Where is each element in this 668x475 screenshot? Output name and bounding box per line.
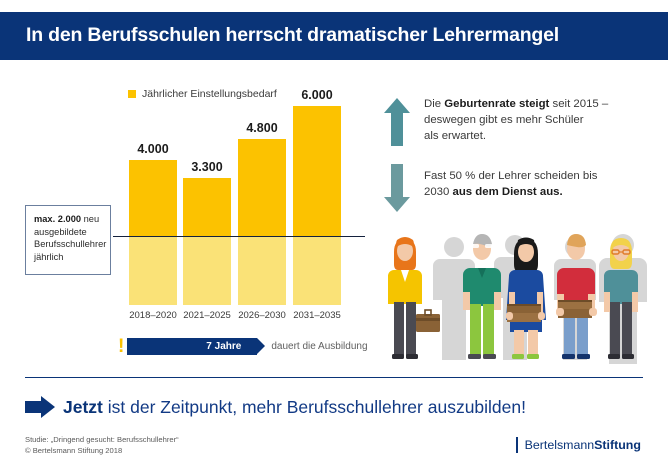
- call-to-action: Jetzt ist der Zeitpunkt, mehr Berufsschu…: [25, 396, 526, 418]
- call-to-action-text: Jetzt ist der Zeitpunkt, mehr Berufsschu…: [63, 396, 526, 418]
- people-illustration: [378, 230, 663, 370]
- bar-segment-above-threshold: [293, 106, 341, 236]
- arrow-up-icon: [382, 96, 412, 148]
- bar-segment-below-threshold: [129, 236, 177, 305]
- threshold-callout-box: max. 2.000 neu ausgebildete Berufsschull…: [25, 205, 111, 275]
- bar-segment-below-threshold: [238, 236, 286, 305]
- years-value-label: 7 Jahre: [206, 341, 241, 352]
- bar-category-label: 2031–2035: [272, 310, 362, 321]
- logo-bar-icon: [516, 437, 518, 453]
- fact-retirement-bold: aus dem Dienst aus.: [453, 186, 563, 198]
- bar-segment-above-threshold: [183, 178, 231, 236]
- fact-birthrate-text: Die Geburtenrate steigt seit 2015 – desw…: [424, 96, 662, 144]
- bar-chart: Jährlicher Einstellungsbedarf 4.000 2018…: [0, 60, 365, 370]
- facts-list: Die Geburtenrate steigt seit 2015 – desw…: [382, 96, 662, 228]
- fact-birthrate-bold: Geburtenrate steigt: [444, 98, 549, 110]
- fact-birthrate-line2: deswegen gibt es mehr Schüler: [424, 114, 584, 126]
- logo-text-regular: Bertelsmann: [525, 438, 595, 452]
- threshold-callout-bold: max. 2.000: [34, 214, 81, 224]
- arrow-right-icon: [25, 396, 55, 418]
- bar-segment-above-threshold: [238, 139, 286, 236]
- exclamation-icon: !: [118, 338, 124, 355]
- figure-woman-yellow-jacket: [388, 237, 440, 359]
- fact-retirement-text: Fast 50 % der Lehrer scheiden bis 2030 a…: [424, 168, 662, 200]
- fact-retirement: Fast 50 % der Lehrer scheiden bis 2030 a…: [382, 162, 662, 214]
- fact-birthrate: Die Geburtenrate steigt seit 2015 – desw…: [382, 96, 662, 148]
- fact-birthrate-post: seit 2015 –: [549, 98, 608, 110]
- logo-text: BertelsmannStiftung: [525, 438, 641, 452]
- bar-value-label: 6.000: [272, 88, 362, 102]
- fact-retirement-line1: Fast 50 % der Lehrer scheiden bis: [424, 170, 598, 182]
- arrow-down-icon: [382, 162, 412, 214]
- years-caption-label: dauert die Ausbildung: [271, 341, 367, 352]
- fact-birthrate-pre: Die: [424, 98, 444, 110]
- fact-birthrate-line3: als erwartet.: [424, 130, 486, 142]
- figure-man-green-shirt: [463, 234, 501, 359]
- source-line-2: © Bertelsmann Stiftung 2018: [25, 445, 179, 456]
- legend-label: Jährlicher Einstellungsbedarf: [142, 88, 277, 100]
- fact-retirement-line2-pre: 2030: [424, 186, 453, 198]
- source-note: Studie: „Dringend gesucht: Berufsschulle…: [25, 434, 179, 456]
- call-to-action-bold: Jetzt: [63, 397, 103, 417]
- logo-text-bold: Stiftung: [594, 438, 641, 452]
- years-banner-arrow: 7 Jahre: [127, 338, 257, 355]
- page-title: In den Berufsschulen herrscht dramatisch…: [26, 24, 646, 47]
- threshold-line: [113, 236, 365, 237]
- chart-legend: Jährlicher Einstellungsbedarf: [128, 88, 277, 100]
- source-line-1: Studie: „Dringend gesucht: Berufsschulle…: [25, 434, 179, 445]
- threshold-callout-text: max. 2.000 neu ausgebildete Berufsschull…: [34, 213, 103, 263]
- bar-value-label: 4.000: [108, 142, 198, 156]
- bar-segment-below-threshold: [293, 236, 341, 305]
- legend-swatch-icon: [128, 90, 136, 98]
- bertelsmann-stiftung-logo: BertelsmannStiftung: [516, 437, 641, 453]
- bar-segment-below-threshold: [183, 236, 231, 305]
- training-duration-banner: ! 7 Jahre dauert die Ausbildung: [118, 338, 368, 355]
- section-divider: [25, 377, 643, 378]
- call-to-action-rest: ist der Zeitpunkt, mehr Berufsschullehre…: [103, 397, 526, 417]
- infographic-page: In den Berufsschulen herrscht dramatisch…: [0, 0, 668, 475]
